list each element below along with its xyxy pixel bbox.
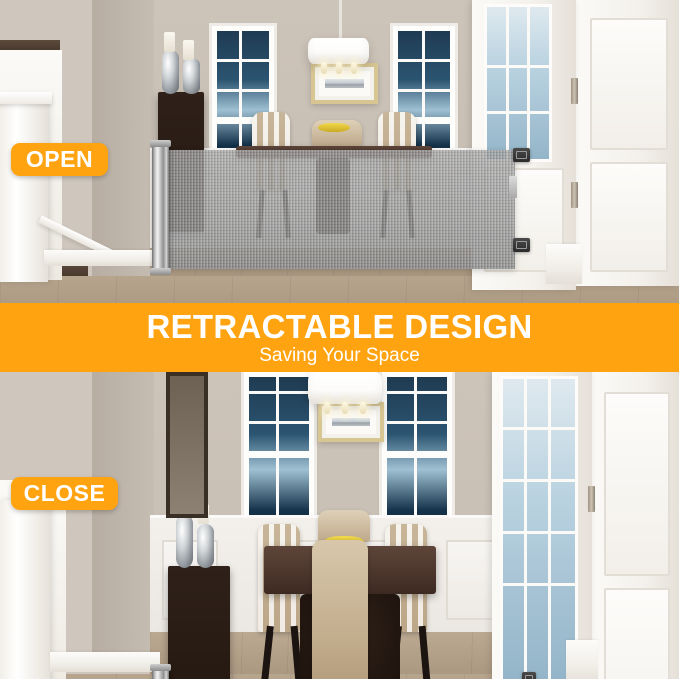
dining-chair-front [312,540,368,679]
candle-holder [183,58,200,94]
newel-post [0,500,50,679]
door-panel [604,392,670,576]
door-glass-mullion [527,7,530,159]
door-glass-panes [484,4,552,162]
pendant-bulbs [318,402,372,416]
gate-latch-top[interactable] [513,148,530,162]
pendant-bulb [324,402,330,414]
status-badge-open: OPEN [11,143,108,176]
sideboard [168,566,230,679]
candle [164,32,175,52]
candle-holder [162,50,179,94]
left-side-wall [92,372,154,672]
gate-post-cap [150,664,171,671]
gate-post-cap [150,140,171,147]
door-glass-mullion [503,479,575,482]
window-mullion [249,421,309,424]
window-sash-rail [387,451,447,458]
retractable-mesh-gate[interactable] [168,150,515,269]
window-mullion [398,89,450,92]
door-panel [590,162,668,272]
pendant-bulb [321,62,327,74]
door-glass-mullion [503,427,575,430]
door-glass-mullion [487,65,549,68]
pendant-bulb [342,402,348,414]
product-image: OPEN CLOSE RETRACTABLE DESIGN Saving You… [0,0,679,679]
pendant-bulbs [316,62,361,76]
artwork-canvas [332,418,370,426]
door-right-outer [576,0,679,286]
door-glass-mullion [506,7,509,159]
pendant-shade [308,372,382,404]
window-mullion [387,391,447,394]
door-glass-mullion [487,111,549,114]
newel-post [0,96,48,282]
feature-banner: RETRACTABLE DESIGN Saving Your Space [0,303,679,372]
candle-holder [176,514,193,568]
baseboard-left [44,250,154,266]
door-hinge [571,78,578,104]
french-door-glass [500,376,578,679]
baseboard-left [50,652,160,672]
door-glass-mullion [503,531,575,534]
door-hinge [588,486,595,512]
candle-holders [162,48,202,94]
wall-mirror [166,372,208,518]
baseboard-right [546,244,582,284]
door-glass-mullion [524,379,527,679]
baseboard-right [566,640,598,679]
window-mullion [217,59,269,62]
door-panel [604,588,670,679]
window-mullion [387,421,447,424]
scene-close-content [0,372,679,679]
gate-wall-bracket[interactable] [522,672,536,679]
gate-latch-bottom[interactable] [513,238,530,252]
pendant-bulb [351,62,357,74]
banner-subtitle: Saving Your Space [259,346,420,365]
door-glass-mullion [548,379,551,679]
gate-striker-plate [509,176,517,198]
pendant-shade [308,38,369,64]
fruit-bowl [318,123,350,132]
pendant-bulb [336,62,342,74]
banner-title: RETRACTABLE DESIGN [146,310,532,343]
gate-housing-post[interactable] [152,144,169,272]
pendant-cord [339,0,342,38]
door-hinge [571,182,578,208]
window-sash-rail [249,451,309,458]
status-badge-close: CLOSE [11,477,118,510]
stair-tread [0,40,60,50]
artwork-canvas [325,79,364,88]
window-mullion [249,391,309,394]
candle-holder [197,524,214,568]
door-right-outer [592,372,679,679]
window-mullion [398,59,450,62]
candle [183,40,194,60]
newel-cap [0,92,52,104]
pendant-bulb [360,402,366,414]
scene-close [0,372,679,679]
window-mullion [217,89,269,92]
door-panel [590,18,668,150]
door-glass-mullion [503,583,575,586]
gate-post-foot [150,268,171,275]
